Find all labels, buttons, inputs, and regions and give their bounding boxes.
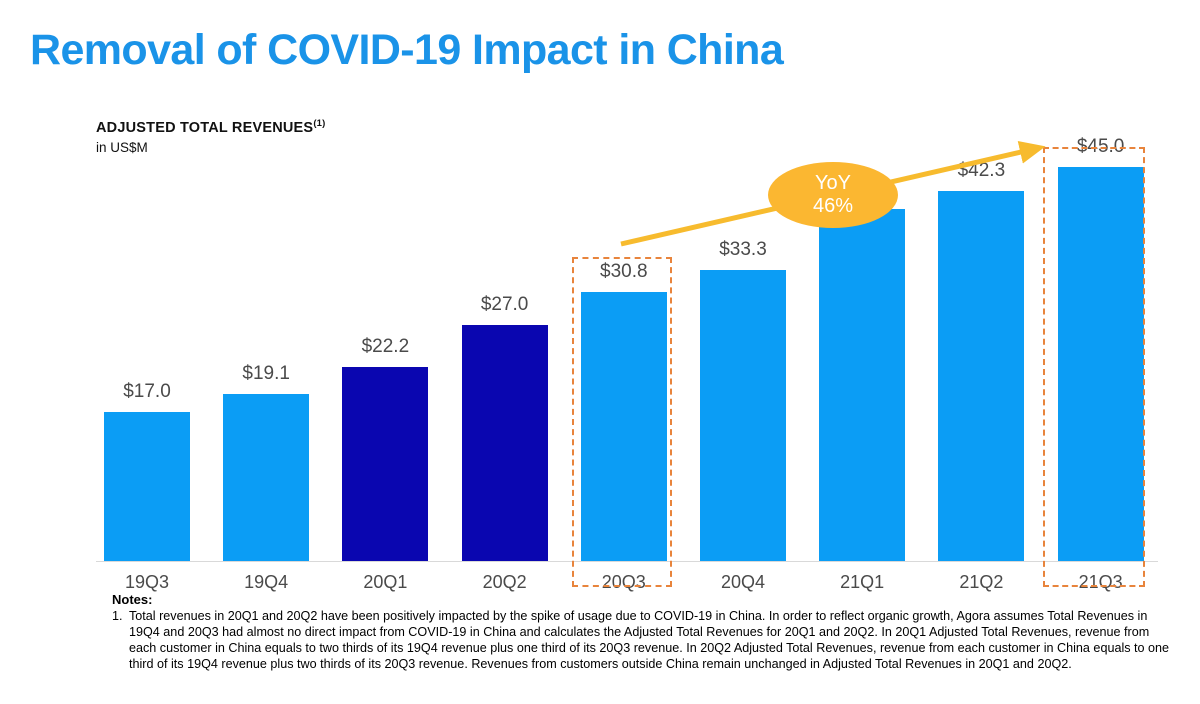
- note-number: 1.: [112, 609, 129, 672]
- yoy-value: 46%: [813, 195, 853, 218]
- bar-value-label-20q4: $33.3: [688, 239, 798, 261]
- x-axis-label-19q3: 19Q3: [92, 572, 202, 593]
- bar-20q2: [462, 325, 548, 561]
- x-axis-label-20q1: 20Q1: [330, 572, 440, 593]
- x-axis-line: [96, 561, 1158, 562]
- bar-chart-plot-area: $17.019Q3$19.119Q4$22.220Q1$27.020Q2$30.…: [0, 0, 1200, 600]
- yoy-label: YoY: [815, 172, 851, 195]
- x-axis-label-21q2: 21Q2: [926, 572, 1036, 593]
- note-item: 1. Total revenues in 20Q1 and 20Q2 have …: [112, 609, 1172, 672]
- bar-value-label-21q2: $42.3: [926, 160, 1036, 182]
- bar-21q1: [819, 209, 905, 561]
- notes-section: Notes: 1. Total revenues in 20Q1 and 20Q…: [112, 592, 1172, 672]
- bar-20q1: [342, 367, 428, 561]
- x-axis-label-20q2: 20Q2: [450, 572, 560, 593]
- bar-19q4: [223, 394, 309, 561]
- x-axis-label-21q1: 21Q1: [807, 572, 917, 593]
- bar-21q2: [938, 191, 1024, 561]
- x-axis-label-20q4: 20Q4: [688, 572, 798, 593]
- bar-21q3: [1058, 167, 1144, 561]
- yoy-callout-badge: YoY 46%: [768, 162, 898, 228]
- bar-20q4: [700, 270, 786, 561]
- note-text: Total revenues in 20Q1 and 20Q2 have bee…: [129, 609, 1172, 672]
- bar-value-label-20q2: $27.0: [450, 294, 560, 316]
- bar-20q3: [581, 292, 667, 562]
- x-axis-label-19q4: 19Q4: [211, 572, 321, 593]
- bar-value-label-20q3: $30.8: [569, 261, 679, 283]
- notes-heading: Notes:: [112, 592, 1172, 607]
- x-axis-label-20q3: 20Q3: [569, 572, 679, 593]
- bar-value-label-19q4: $19.1: [211, 363, 321, 385]
- bar-value-label-20q1: $22.2: [330, 336, 440, 358]
- bar-19q3: [104, 412, 190, 561]
- x-axis-label-21q3: 21Q3: [1046, 572, 1156, 593]
- bar-value-label-19q3: $17.0: [92, 381, 202, 403]
- bar-value-label-21q3: $45.0: [1046, 136, 1156, 158]
